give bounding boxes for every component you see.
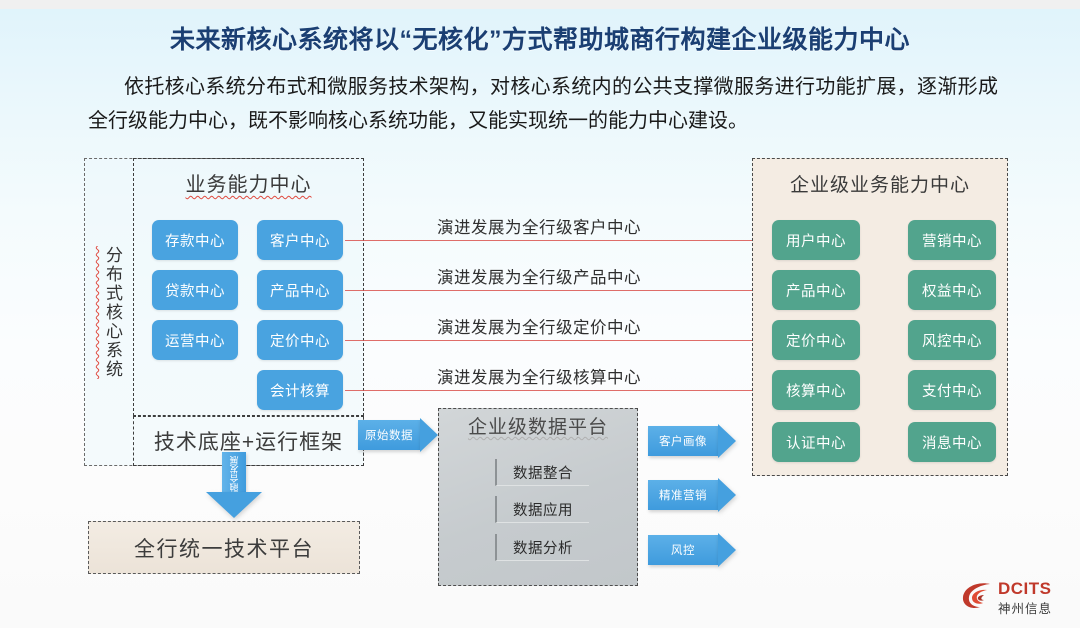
logo-text-en: DCITS xyxy=(998,579,1052,599)
integration-down-arrow: 融合发展 xyxy=(206,452,262,520)
ent-pill-authentication[interactable]: 认证中心 xyxy=(772,422,860,462)
evolution-line-product xyxy=(345,290,757,291)
ent-pill-pricing[interactable]: 定价中心 xyxy=(772,320,860,360)
ent-pill-payment[interactable]: 支付中心 xyxy=(908,370,996,410)
core-pill-product[interactable]: 产品中心 xyxy=(257,270,343,310)
output-arrow-precision-marketing-label: 精准营销 xyxy=(659,487,707,503)
evolution-label-customer: 演进发展为全行级客户中心 xyxy=(437,214,641,238)
ent-pill-marketing[interactable]: 营销中心 xyxy=(908,220,996,260)
company-logo: DCITS 神州信息 xyxy=(960,578,1072,620)
raw-data-arrow-label: 原始数据 xyxy=(365,427,413,443)
output-arrow-risk-control: 风控 xyxy=(648,535,736,565)
evolution-line-customer xyxy=(345,240,757,241)
output-arrow-customer-profile: 客户画像 xyxy=(648,426,736,456)
unified-tech-platform-box: 全行统一技术平台 xyxy=(88,521,360,574)
core-pill-deposit[interactable]: 存款中心 xyxy=(152,220,238,260)
logo-text-cn: 神州信息 xyxy=(998,598,1052,617)
ent-pill-message[interactable]: 消息中心 xyxy=(908,422,996,462)
down-arrow-label: 融合发展 xyxy=(220,454,248,494)
ent-pill-accounting[interactable]: 核算中心 xyxy=(772,370,860,410)
down-arrow-tip xyxy=(206,492,262,518)
evolution-label-pricing: 演进发展为全行级定价中心 xyxy=(437,314,641,338)
core-pill-customer[interactable]: 客户中心 xyxy=(257,220,343,260)
data-platform-item-integration[interactable]: 数据整合 xyxy=(495,459,589,486)
core-pill-loan[interactable]: 贷款中心 xyxy=(152,270,238,310)
evolution-label-accounting: 演进发展为全行级核算中心 xyxy=(437,364,641,388)
output-arrow-risk-control-label: 风控 xyxy=(671,542,695,558)
page-title: 未来新核心系统将以“无核化”方式帮助城商行构建企业级能力中心 xyxy=(0,20,1080,56)
evolution-label-product: 演进发展为全行级产品中心 xyxy=(437,264,641,288)
core-pill-operation[interactable]: 运营中心 xyxy=(152,320,238,360)
ent-pill-rights[interactable]: 权益中心 xyxy=(908,270,996,310)
ent-pill-riskcontrol[interactable]: 风控中心 xyxy=(908,320,996,360)
dcits-swirl-icon xyxy=(960,580,994,612)
evolution-line-pricing xyxy=(345,340,757,341)
ent-pill-user[interactable]: 用户中心 xyxy=(772,220,860,260)
data-platform-item-application[interactable]: 数据应用 xyxy=(495,496,589,523)
output-arrow-precision-marketing: 精准营销 xyxy=(648,480,736,510)
business-capability-center-title: 业务能力中心 xyxy=(133,168,364,197)
page-subtitle: 依托核心系统分布式和微服务技术架构，对核心系统内的公共支撑微服务进行功能扩展，逐… xyxy=(88,70,998,138)
core-pill-accounting[interactable]: 会计核算 xyxy=(257,370,343,410)
ent-pill-product[interactable]: 产品中心 xyxy=(772,270,860,310)
core-pill-pricing[interactable]: 定价中心 xyxy=(257,320,343,360)
raw-data-arrow: 原始数据 xyxy=(358,420,438,450)
distributed-core-system-label: 分布式核心系统 xyxy=(92,222,132,402)
output-arrow-customer-profile-label: 客户画像 xyxy=(659,433,707,449)
enterprise-data-platform-title: 企业级数据平台 xyxy=(438,412,638,439)
slide-canvas: 未来新核心系统将以“无核化”方式帮助城商行构建企业级能力中心 依托核心系统分布式… xyxy=(0,0,1080,628)
enterprise-capability-panel-title: 企业级业务能力中心 xyxy=(752,170,1008,197)
evolution-line-accounting xyxy=(345,390,757,391)
data-platform-item-analysis[interactable]: 数据分析 xyxy=(495,534,589,561)
